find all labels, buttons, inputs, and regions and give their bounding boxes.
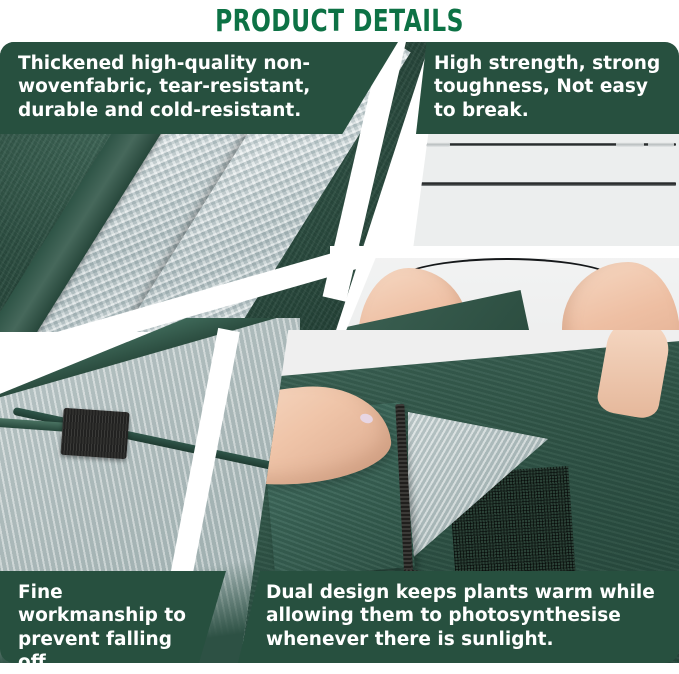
- caption-top-left: Thickened high-quality non-wovenfabric, …: [0, 42, 398, 134]
- divider-horizontal-right: [330, 246, 679, 258]
- product-details-infographic: PRODUCT DETAILS: [0, 0, 679, 663]
- caption-top-left-text: Thickened high-quality non-wovenfabric, …: [18, 52, 352, 122]
- rod-sleeve-left-icon: [416, 142, 450, 147]
- page-title: PRODUCT DETAILS: [215, 4, 464, 39]
- velcro-strap: [60, 408, 129, 459]
- rod-sleeve-right-icon: [616, 142, 644, 147]
- caption-bottom-left-text: Fine workmanship to prevent falling off.: [18, 581, 200, 674]
- plain-rod-icon: [408, 182, 676, 186]
- caption-bottom-right: Dual design keeps plants warm while allo…: [238, 571, 679, 663]
- caption-bottom-right-text: Dual design keeps plants warm while allo…: [266, 581, 665, 651]
- caption-top-right: High strength, strong toughness, Not eas…: [416, 42, 679, 134]
- rod-sleeve-far-right-icon: [648, 142, 674, 147]
- page-title-bar: PRODUCT DETAILS: [0, 0, 679, 42]
- caption-bottom-left: Fine workmanship to prevent falling off.: [0, 571, 226, 663]
- caption-top-right-text: High strength, strong toughness, Not eas…: [434, 52, 665, 122]
